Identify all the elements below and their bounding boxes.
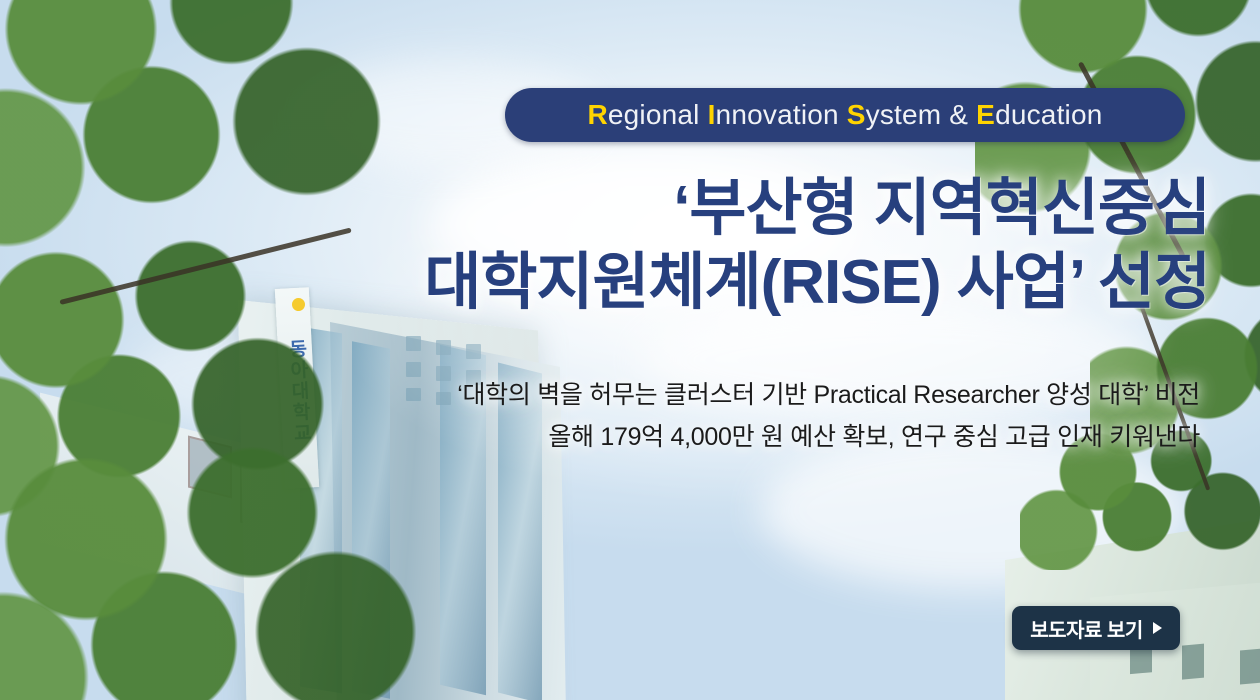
rise-promo-banner: 동아대학교 Regional Innovation System & Educa…	[0, 0, 1260, 700]
press-release-button-label: 보도자료 보기	[1030, 614, 1142, 643]
subtitle-line-2: 올해 179억 4,000만 원 예산 확보, 연구 중심 고급 인재 키워낸다	[0, 416, 1200, 458]
headline-line-2: 대학지원체계(RISE) 사업’ 선정	[0, 246, 1210, 320]
press-release-button[interactable]: 보도자료 보기	[1012, 606, 1180, 650]
subtitle-line-1: ‘대학의 벽을 허무는 클러스터 기반 Practical Researcher…	[0, 374, 1200, 416]
play-arrow-right-icon	[1153, 622, 1162, 634]
rise-acronym-text: Regional Innovation System & Education	[587, 99, 1102, 131]
headline-line-1: ‘부산형 지역혁신중심	[0, 172, 1210, 246]
headline: ‘부산형 지역혁신중심 대학지원체계(RISE) 사업’ 선정	[0, 172, 1210, 320]
banner-content: Regional Innovation System & Education ‘…	[0, 0, 1260, 700]
rise-acronym-badge: Regional Innovation System & Education	[505, 88, 1185, 142]
subtitle-block: ‘대학의 벽을 허무는 클러스터 기반 Practical Researcher…	[0, 374, 1200, 458]
